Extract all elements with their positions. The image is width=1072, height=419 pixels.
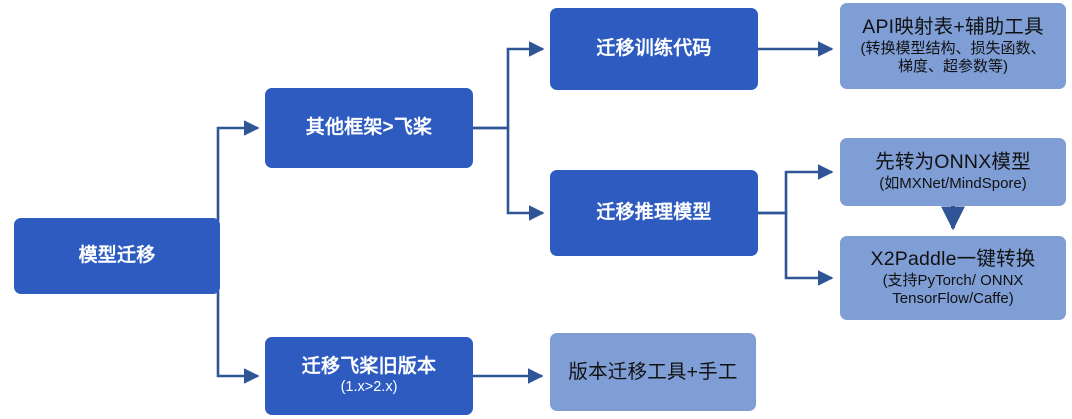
node-label: API映射表+辅助工具 <box>862 16 1044 39</box>
node-sublabel-line-2: 梯度、超参数等) <box>861 58 1046 76</box>
node-label: 迁移飞桨旧版本 <box>302 356 436 378</box>
node-sublabel-line-1: (支持PyTorch/ ONNX <box>883 272 1024 290</box>
edge-other-framework-to-infer-model <box>473 128 543 213</box>
node-label: 迁移推理模型 <box>596 202 711 224</box>
node-version-migration-tool[interactable]: 版本迁移工具+手工 <box>550 333 756 411</box>
node-x2paddle-one-click-convert[interactable]: X2Paddle一键转换 (支持PyTorch/ ONNX TensorFlow… <box>840 236 1066 320</box>
node-label: X2Paddle一键转换 <box>871 248 1036 271</box>
node-sublabel: (转换模型结构、损失函数、 梯度、超参数等) <box>861 40 1046 76</box>
edge-other-framework-to-train-code <box>473 49 543 128</box>
node-label: 版本迁移工具+手工 <box>568 361 737 384</box>
node-label: 迁移训练代码 <box>596 38 711 60</box>
node-migrate-old-paddle-version[interactable]: 迁移飞桨旧版本 (1.x>2.x) <box>265 337 473 415</box>
node-migrate-training-code[interactable]: 迁移训练代码 <box>550 8 758 90</box>
node-model-migration[interactable]: 模型迁移 <box>14 218 220 294</box>
node-api-mapping-table[interactable]: API映射表+辅助工具 (转换模型结构、损失函数、 梯度、超参数等) <box>840 3 1066 89</box>
node-label: 模型迁移 <box>79 245 156 267</box>
edge-infer-model-to-x2paddle <box>758 213 832 278</box>
node-migrate-inference-model[interactable]: 迁移推理模型 <box>550 170 758 256</box>
edge-infer-model-to-onnx <box>758 172 832 213</box>
node-convert-to-onnx[interactable]: 先转为ONNX模型 (如MXNet/MindSpore) <box>840 138 1066 206</box>
node-sublabel-line-1: (转换模型结构、损失函数、 <box>861 40 1046 58</box>
node-label: 其他框架>飞桨 <box>306 117 433 139</box>
node-sublabel: (1.x>2.x) <box>341 379 398 396</box>
node-sublabel: (如MXNet/MindSpore) <box>879 175 1027 193</box>
node-label: 先转为ONNX模型 <box>875 151 1031 174</box>
node-sublabel-line-2: TensorFlow/Caffe) <box>883 290 1024 308</box>
node-other-framework-to-paddle[interactable]: 其他框架>飞桨 <box>265 88 473 168</box>
node-sublabel: (支持PyTorch/ ONNX TensorFlow/Caffe) <box>883 272 1024 308</box>
diagram-canvas: 模型迁移 其他框架>飞桨 迁移飞桨旧版本 (1.x>2.x) 迁移训练代码 迁移… <box>0 0 1072 419</box>
edge-root-to-other-framework <box>218 128 258 256</box>
edge-root-to-old-version <box>218 256 258 376</box>
